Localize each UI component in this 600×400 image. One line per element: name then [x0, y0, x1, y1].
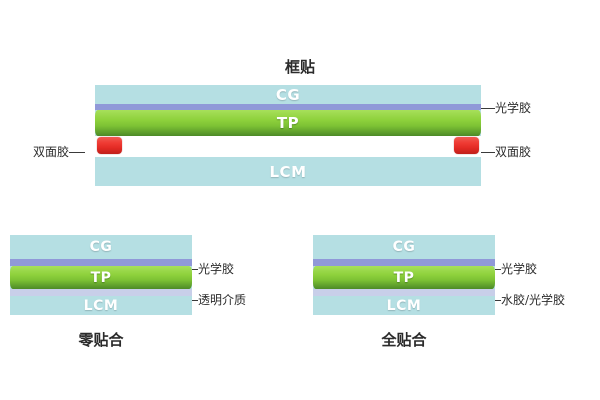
layer-touch-panel: TP — [313, 266, 495, 289]
layer-label-lcm: LCM — [270, 163, 307, 181]
double-sided-tape-left — [97, 137, 122, 154]
leader-line — [481, 108, 495, 109]
layer-lcd-module: LCM — [313, 296, 495, 315]
layer-optical-adhesive — [313, 259, 495, 266]
layer-optical-adhesive — [10, 259, 192, 266]
layer-touch-panel: TP — [10, 266, 192, 289]
callout-optical-adhesive-full: 光学胶 — [495, 263, 537, 275]
layer-label-tp: TP — [394, 270, 415, 286]
leader-line — [481, 152, 495, 153]
layer-transparent-medium — [10, 289, 192, 296]
figure-frame-bonding-stack: CG TP LCM — [95, 85, 481, 186]
layer-lcd-module: LCM — [95, 157, 481, 186]
leader-line — [69, 152, 85, 153]
callout-label: 水胶/光学胶 — [501, 294, 565, 306]
callout-optical-adhesive-frame: 光学胶 — [481, 102, 531, 114]
layer-label-cg: CG — [276, 86, 300, 104]
callout-double-sided-tape-right: 双面胶 — [481, 146, 531, 158]
callout-optical-adhesive-zero: 光学胶 — [192, 263, 234, 275]
figure-title-frame-bonding: 框贴 — [0, 56, 600, 77]
figure-title-full-bonding: 全贴合 — [313, 329, 495, 350]
callout-label: 光学胶 — [495, 102, 531, 114]
layer-label-cg: CG — [90, 239, 113, 255]
layer-label-tp: TP — [277, 114, 299, 132]
layer-cover-glass: CG — [95, 85, 481, 104]
callout-label: 光学胶 — [198, 263, 234, 275]
callout-transparent-medium-zero: 透明介质 — [192, 294, 246, 306]
double-sided-tape-right — [454, 137, 479, 154]
callout-water-glue-full: 水胶/光学胶 — [495, 294, 565, 306]
layer-label-tp: TP — [91, 270, 112, 286]
diagram-canvas: 框贴 CG TP LCM 光学胶 双面胶 双面胶 CG — [0, 0, 600, 400]
figure-title-zero-bonding: 零贴合 — [10, 329, 192, 350]
layer-label-lcm: LCM — [84, 298, 119, 314]
callout-double-sided-tape-left: 双面胶 — [33, 146, 85, 158]
layer-touch-panel: TP — [95, 110, 481, 136]
layer-lcd-module: LCM — [10, 296, 192, 315]
layer-label-cg: CG — [393, 239, 416, 255]
figure-full-bonding-stack: CG TP LCM — [313, 235, 495, 315]
layer-label-lcm: LCM — [387, 298, 422, 314]
callout-label: 双面胶 — [33, 146, 69, 158]
layer-cover-glass: CG — [10, 235, 192, 259]
callout-label: 双面胶 — [495, 146, 531, 158]
callout-label: 光学胶 — [501, 263, 537, 275]
layer-cover-glass: CG — [313, 235, 495, 259]
layer-water-glue — [313, 289, 495, 296]
figure-zero-bonding-stack: CG TP LCM — [10, 235, 192, 315]
callout-label: 透明介质 — [198, 294, 246, 306]
layer-air-gap — [95, 136, 481, 157]
